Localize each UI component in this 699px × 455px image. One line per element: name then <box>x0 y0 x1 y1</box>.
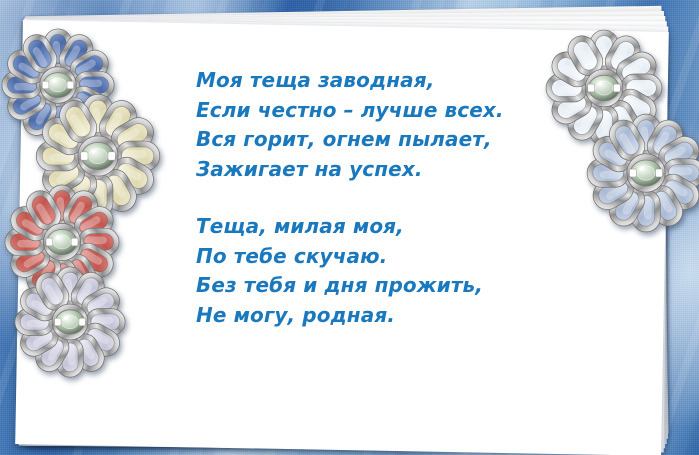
stanza-separator <box>196 184 526 212</box>
flower-steel-blue-icon <box>584 111 699 235</box>
poem-line: Теща, милая моя, <box>196 212 526 242</box>
greeting-card-canvas: Моя теща заводная, Если честно – лучше в… <box>0 0 699 455</box>
poem-line: Без тебя и дня прожить, <box>196 271 526 301</box>
flower-lavender-icon <box>12 264 128 380</box>
poem-line: Зажигает на успех. <box>196 155 526 185</box>
poem-line: Если честно – лучше всех. <box>196 96 526 126</box>
poem-line: Вся горит, огнем пылает, <box>196 125 526 155</box>
poem-line: Моя теща заводная, <box>196 66 526 96</box>
poem-line: Не могу, родная. <box>196 301 526 331</box>
poem-line: По тебе скучаю. <box>196 242 526 272</box>
poem-text-block: Моя теща заводная, Если честно – лучше в… <box>196 66 526 330</box>
